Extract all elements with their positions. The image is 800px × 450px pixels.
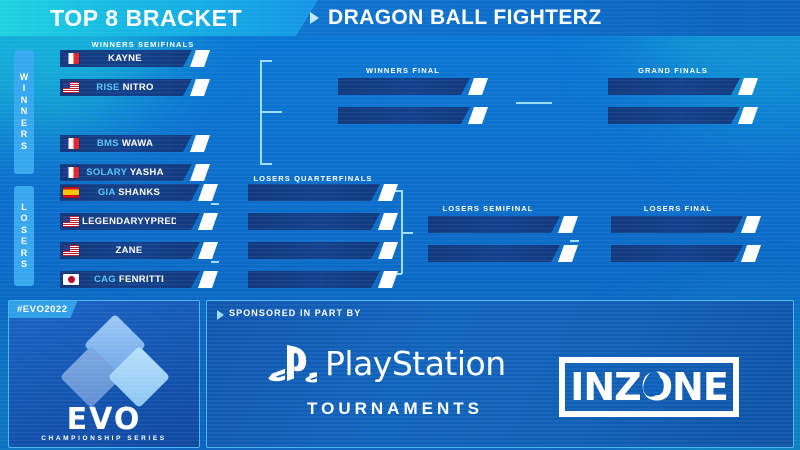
match-slot[interactable]: RISE NITRO (60, 79, 192, 96)
player-name (630, 78, 716, 95)
playstation-wordmark: PlayStation (325, 345, 506, 383)
playstation-logo-row: PlayStation (267, 341, 517, 391)
match-slot[interactable]: SOLARY YASHA (60, 164, 192, 181)
match-slot[interactable] (611, 216, 743, 233)
score-box (741, 216, 761, 233)
player-tag: GIA (98, 187, 115, 198)
inzone-sponsor-logo: INZONE (559, 357, 739, 417)
player-name: LEGENDARYYPRED (82, 213, 176, 230)
score-box (468, 78, 488, 95)
round-label-grand-finals: GRAND FINALS (608, 66, 738, 75)
connector-winners-bottom (260, 163, 272, 165)
score-box (198, 184, 218, 201)
match-slot[interactable]: CAG FENRITTI (60, 271, 200, 288)
sponsor-panel: SPONSORED IN PART BY PlayStation TOURNAM… (206, 300, 794, 448)
player-name (630, 107, 716, 124)
round-label-winners-final: WINNERS FINAL (338, 66, 468, 75)
round-label-losers-quarterfinals: LOSERS QUARTERFINALS (238, 174, 388, 183)
connector-losers-r1-pair-2 (211, 261, 219, 263)
header-bar: TOP 8 BRACKET DRAGON BALL FIGHTERZ (0, 0, 800, 36)
player-name: ZANE (82, 242, 176, 259)
score-box (738, 107, 758, 124)
player-name: RISE NITRO (82, 79, 168, 96)
score-box (378, 184, 398, 201)
match-slot[interactable]: KAYNE (60, 50, 192, 67)
playstation-ps-icon (267, 343, 319, 385)
player-name (270, 271, 356, 288)
player-name: KAYNE (82, 50, 168, 67)
flag-icon-us (63, 216, 79, 227)
score-box (738, 78, 758, 95)
player-name (360, 107, 446, 124)
rail-letter: N (21, 95, 28, 107)
match-slot[interactable] (248, 242, 380, 259)
rail-letter: S (21, 141, 27, 153)
flag-icon-us (63, 245, 79, 256)
round-label-winners-semifinals: WINNERS SEMIFINALS (68, 40, 218, 49)
rail-letter: O (20, 213, 27, 225)
score-box (558, 245, 578, 262)
score-box (468, 107, 488, 124)
play-triangle-icon (310, 12, 319, 24)
player-name (360, 78, 446, 95)
match-slot[interactable] (611, 245, 743, 262)
score-box (190, 79, 210, 96)
match-slot[interactable] (248, 213, 380, 230)
score-box (378, 242, 398, 259)
round-label-losers-semifinal: LOSERS SEMIFINAL (423, 204, 553, 213)
rail-letter: W (20, 72, 29, 84)
player-tag: RISE (96, 82, 119, 93)
score-box (190, 135, 210, 152)
footer-area: #EVO2022 EVO CHAMPIONSHIP SERIES SPONSOR… (0, 296, 800, 450)
winners-rail-label: WINNERS (14, 50, 34, 174)
rail-letter: S (21, 259, 27, 271)
score-box (741, 245, 761, 262)
score-box (190, 50, 210, 67)
score-box (198, 213, 218, 230)
evo-wordmark: EVO (9, 405, 199, 435)
flag-icon-jp (63, 274, 79, 285)
match-slot[interactable] (608, 107, 740, 124)
player-name (450, 245, 536, 262)
connector-losers-r1-pair-1 (211, 203, 219, 205)
playstation-tournaments-label: TOURNAMENTS (273, 399, 517, 419)
player-name (450, 216, 536, 233)
match-slot[interactable] (338, 78, 470, 95)
rail-letter: L (21, 202, 27, 214)
match-slot[interactable]: GIA SHANKS (60, 184, 200, 201)
losers-rail-label: LOSERS (14, 186, 34, 286)
match-slot[interactable] (248, 184, 380, 201)
flag-icon-es (63, 187, 79, 198)
flag-icon-us (63, 82, 79, 93)
score-box (198, 271, 218, 288)
rail-letter: R (21, 129, 28, 141)
play-triangle-icon (217, 310, 224, 320)
evo-diamond-logo-icon: EVO CHAMPIONSHIP SERIES (9, 319, 199, 447)
connector-losers-out (401, 232, 413, 234)
match-slot[interactable] (248, 271, 380, 288)
connector-losers-semi-to-final (570, 240, 579, 242)
player-name: CAG FENRITTI (82, 271, 176, 288)
rail-letter: S (21, 225, 27, 237)
player-name: GIA SHANKS (82, 184, 176, 201)
rail-letter: I (23, 83, 26, 95)
player-name: BMS WAWA (82, 135, 168, 152)
flag-icon-fr (63, 167, 79, 178)
bracket-area: WINNERS LOSERS WINNERS SEMIFINALS WINNER… (8, 36, 792, 292)
match-slot[interactable] (608, 78, 740, 95)
connector-winners-out (260, 111, 282, 113)
player-name: SOLARY YASHA (82, 164, 168, 181)
playstation-sponsor-logo: PlayStation TOURNAMENTS (267, 341, 517, 433)
connector-winners-final-to-grand (516, 102, 552, 104)
player-tag: CAG (94, 274, 116, 285)
flag-icon-fr (63, 53, 79, 64)
player-name (270, 213, 356, 230)
match-slot[interactable]: BMS WAWA (60, 135, 192, 152)
score-box (378, 271, 398, 288)
player-tag: SOLARY (86, 167, 127, 178)
evo-logo-panel: #EVO2022 EVO CHAMPIONSHIP SERIES (8, 300, 200, 448)
hashtag-badge: #EVO2022 (9, 301, 77, 318)
rail-letter: R (21, 248, 28, 260)
player-tag: BMS (97, 138, 119, 149)
round-label-losers-final: LOSERS FINAL (613, 204, 743, 213)
rail-letter: E (21, 118, 27, 130)
player-name (633, 216, 719, 233)
score-box (558, 216, 578, 233)
sponsor-label: SPONSORED IN PART BY (229, 308, 361, 318)
match-slot[interactable] (428, 216, 560, 233)
match-slot[interactable] (338, 107, 470, 124)
score-box (378, 213, 398, 230)
evo-subtitle: CHAMPIONSHIP SERIES (9, 435, 199, 442)
rail-letter: N (21, 106, 28, 118)
match-slot[interactable]: ZANE (60, 242, 200, 259)
score-box (198, 242, 218, 259)
player-name (270, 184, 356, 201)
rail-letter: E (21, 236, 27, 248)
game-title: DRAGON BALL FIGHTERZ (328, 5, 602, 31)
broadcast-overlay: TOP 8 BRACKET DRAGON BALL FIGHTERZ WINNE… (0, 0, 800, 450)
match-slot[interactable] (428, 245, 560, 262)
player-name (633, 245, 719, 262)
page-title: TOP 8 BRACKET (50, 5, 242, 31)
connector-winners-top (260, 60, 272, 62)
flag-icon-fr (63, 138, 79, 149)
match-slot[interactable]: LEGENDARYYPRED (60, 213, 200, 230)
player-name (270, 242, 356, 259)
